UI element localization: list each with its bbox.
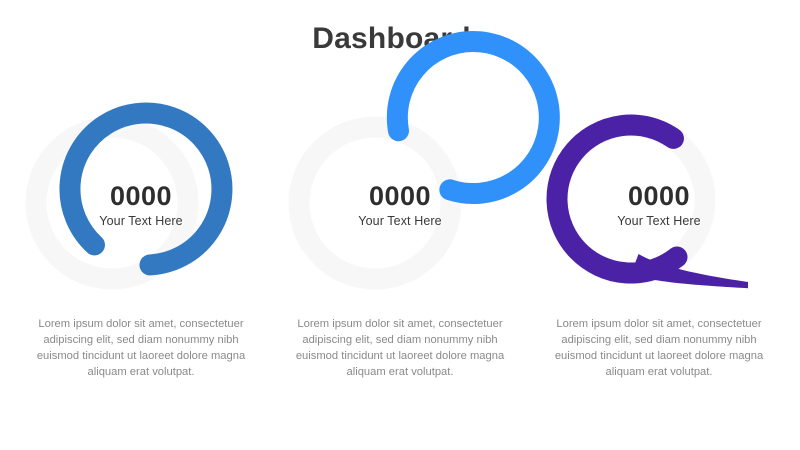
donut-swoosh-icon	[534, 105, 784, 305]
dashboard-card-1[interactable]: 0000 Your Text Here Lorem ipsum dolor si…	[16, 105, 266, 405]
slide-root: Dashboards 0000 Your Text Here Lorem ips…	[0, 0, 800, 450]
dashboard-cards: 0000 Your Text Here Lorem ipsum dolor si…	[0, 105, 800, 405]
donut-gauge-1[interactable]: 0000 Your Text Here	[16, 105, 266, 305]
donut-gauge-3[interactable]: 0000 Your Text Here	[534, 105, 784, 305]
card-description: Lorem ipsum dolor sit amet, consectetuer…	[287, 317, 513, 381]
page-title: Dashboards	[0, 22, 800, 56]
donut-chart-icon	[275, 105, 525, 305]
donut-gauge-2[interactable]: 0000 Your Text Here	[275, 105, 525, 305]
dashboard-card-3[interactable]: 0000 Your Text Here Lorem ipsum dolor si…	[534, 105, 784, 405]
card-description: Lorem ipsum dolor sit amet, consectetuer…	[546, 317, 772, 381]
donut-chart-icon	[16, 105, 266, 305]
card-description: Lorem ipsum dolor sit amet, consectetuer…	[28, 317, 254, 381]
dashboard-card-2[interactable]: 0000 Your Text Here Lorem ipsum dolor si…	[275, 105, 525, 405]
